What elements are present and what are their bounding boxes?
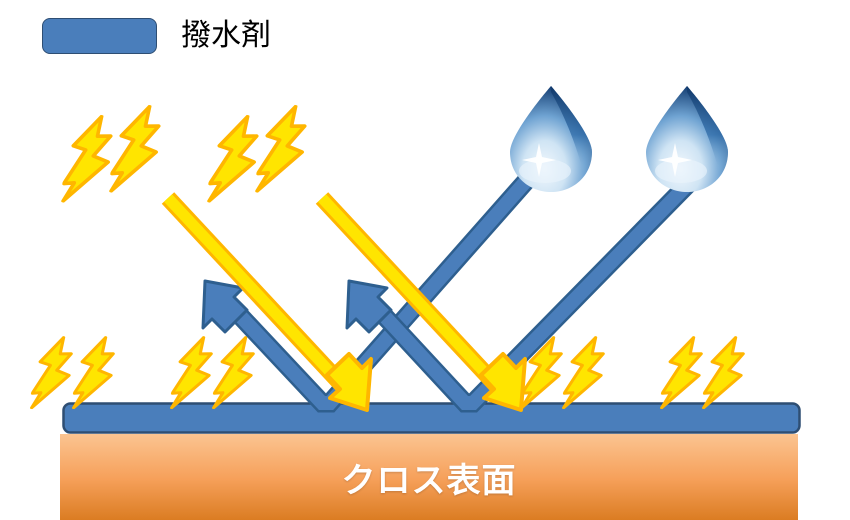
water-droplet-right <box>646 86 728 192</box>
diagram-canvas: 撥水剤 クロス表面 <box>0 0 850 520</box>
legend-label: 撥水剤 <box>181 21 271 51</box>
spark-cluster-upper-mid <box>206 102 311 209</box>
cloth-substrate <box>60 434 798 520</box>
legend: 撥水剤 <box>0 0 400 72</box>
water-repellent-coating-layer <box>64 404 800 433</box>
spark-cluster-lower-left <box>29 333 118 414</box>
water-repellency-illustration <box>0 0 850 520</box>
water-droplet-left <box>510 86 592 192</box>
spark-cluster-lower-right <box>659 333 748 414</box>
repellent-swatch-icon <box>42 18 157 54</box>
spark-cluster-lower-midleft <box>169 333 258 414</box>
spark-cluster-upper-left <box>60 102 165 209</box>
